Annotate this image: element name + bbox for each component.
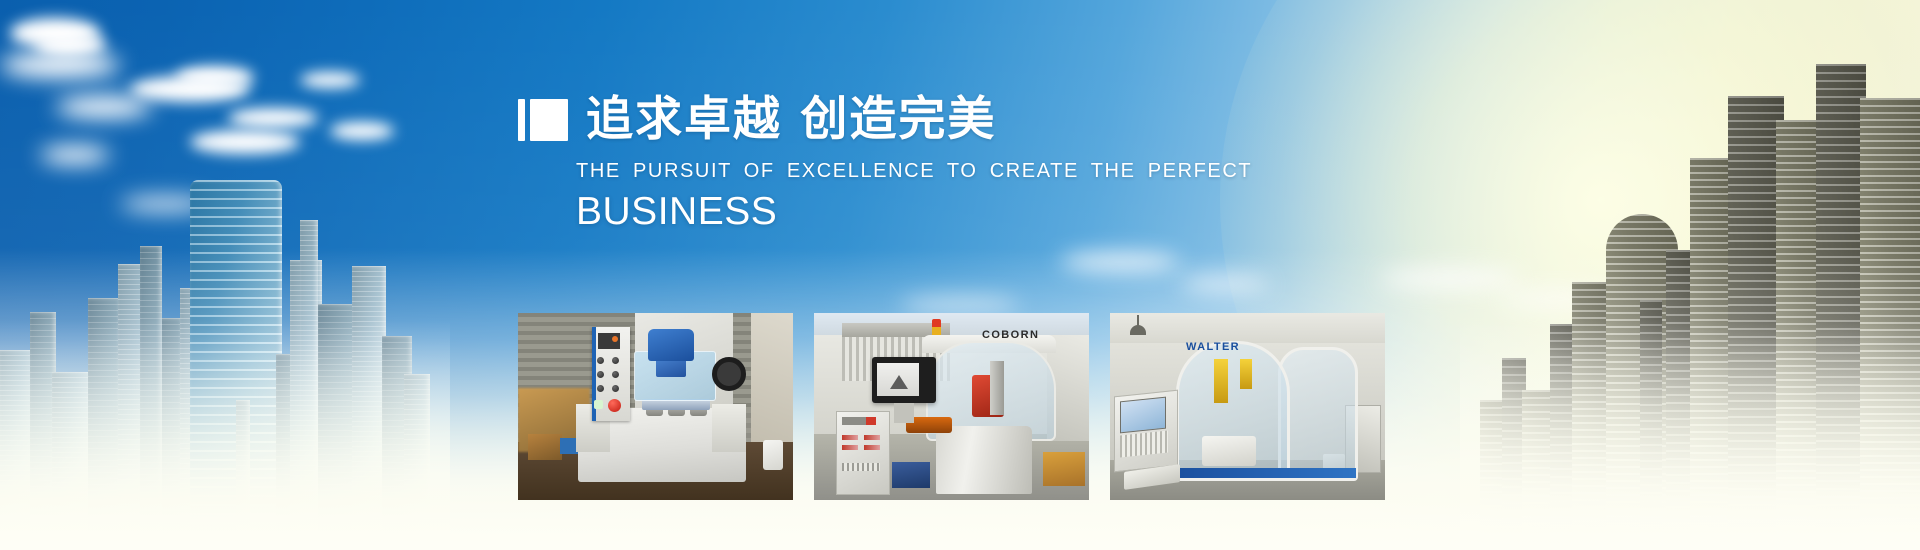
headline-subtitle-word: BUSINESS	[576, 192, 1238, 231]
cityscape-left	[0, 110, 430, 550]
headline-subtitle-en: THE PURSUIT OF EXCELLENCE TO CREATE THE …	[576, 161, 1238, 181]
photo-cnc-bench-grinder[interactable]	[518, 313, 793, 500]
cityscape-right	[1480, 50, 1920, 550]
photo-coborn-machine[interactable]: COBORN	[814, 313, 1089, 500]
headline-title-cn: 追求卓越 创造完美	[586, 96, 996, 143]
flag-block-mark-icon	[518, 99, 568, 141]
photo-walter-machine[interactable]: WALTER	[1110, 313, 1385, 500]
hero-banner: 追求卓越 创造完美 THE PURSUIT OF EXCELLENCE TO C…	[0, 0, 1920, 550]
headline-block: 追求卓越 创造完美 THE PURSUIT OF EXCELLENCE TO C…	[518, 96, 1238, 231]
photo-3-brand-label: WALTER	[1186, 341, 1240, 353]
product-photo-strip: COBORN WALTER	[518, 313, 1385, 500]
title-row: 追求卓越 创造完美	[518, 96, 1238, 143]
photo-2-brand-label: COBORN	[982, 329, 1039, 341]
